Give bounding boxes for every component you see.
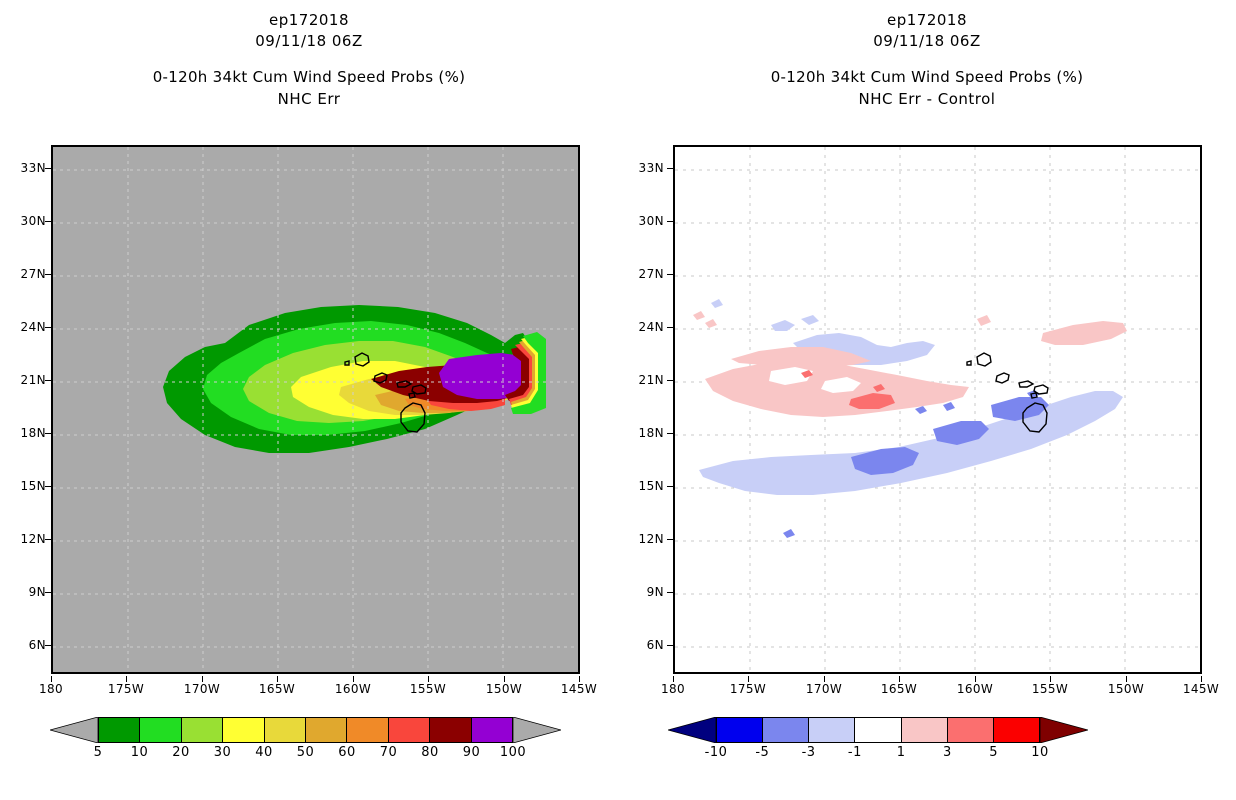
- right-xtick-160w: 160W: [950, 683, 1000, 695]
- panel-nhc-err-minus-control: ep172018 09/11/18 06Z 0-120h 34kt Cum Wi…: [618, 0, 1236, 800]
- right-colorbar-track: [716, 717, 1040, 743]
- right-colorbar-swatch-pos5: [994, 718, 1039, 742]
- left-storm-id: ep172018: [0, 10, 618, 31]
- left-chart-subtitle: NHC Err: [0, 88, 618, 110]
- right-xtick-165w: 165W: [874, 683, 924, 695]
- right-cbar-label-pos3: 3: [927, 745, 967, 761]
- left-cbar-label-20: 20: [161, 745, 201, 761]
- right-colorbar-swatch-neg3: [809, 718, 855, 742]
- left-ytick-12n: 12N: [4, 533, 46, 545]
- right-band-pos1-ne: [1041, 321, 1127, 345]
- right-speck-neg-upper: [771, 320, 795, 331]
- left-colorbar-swatch-30: [223, 718, 264, 742]
- right-colorbar-swatch-pos1: [902, 718, 948, 742]
- right-xtick-170w: 170W: [799, 683, 849, 695]
- right-ytick-33n: 33N: [622, 162, 664, 174]
- left-colorbar-swatch-40: [265, 718, 306, 742]
- left-ytick-21n: 21N: [4, 374, 46, 386]
- right-speck-neg-upper: [801, 315, 819, 325]
- right-xtick-150w: 150W: [1101, 683, 1151, 695]
- left-datetime: 09/11/18 06Z: [0, 31, 618, 52]
- right-xtick-155w: 155W: [1025, 683, 1075, 695]
- right-datetime: 09/11/18 06Z: [618, 31, 1236, 52]
- left-xtick-170w: 170W: [177, 683, 227, 695]
- right-chart-title: 0-120h 34kt Cum Wind Speed Probs (%): [618, 66, 1236, 88]
- right-speck-pos: [705, 319, 717, 328]
- right-difference-field: [675, 147, 1200, 672]
- right-colorbar-high-cap: [1040, 717, 1088, 743]
- right-colorbar-swatch-neutral: [855, 718, 901, 742]
- right-ytick-21n: 21N: [622, 374, 664, 386]
- left-contour-field: [53, 147, 578, 672]
- left-cbar-label-5: 5: [78, 745, 118, 761]
- left-ytick-33n: 33N: [4, 162, 46, 174]
- left-cbar-label-90: 90: [452, 745, 492, 761]
- left-ytick-27n: 27N: [4, 268, 46, 280]
- left-cbar-label-100: 100: [493, 745, 533, 761]
- right-map-plot: [673, 145, 1202, 674]
- right-panel-titles: ep172018 09/11/18 06Z 0-120h 34kt Cum Wi…: [618, 10, 1236, 110]
- left-ytick-30n: 30N: [4, 215, 46, 227]
- right-cbar-label-neg5: -5: [742, 745, 782, 761]
- right-ytick-15n: 15N: [622, 480, 664, 492]
- left-cbar-label-30: 30: [203, 745, 243, 761]
- left-colorbar-low-cap: [50, 717, 98, 743]
- left-xtick-160w: 160W: [328, 683, 378, 695]
- left-cbar-label-50: 50: [286, 745, 326, 761]
- right-colorbar-swatch-neg10: [717, 718, 763, 742]
- left-cbar-label-70: 70: [369, 745, 409, 761]
- left-xtick-165w: 165W: [252, 683, 302, 695]
- right-ytick-9n: 9N: [622, 586, 664, 598]
- right-ytick-30n: 30N: [622, 215, 664, 227]
- right-speck-neg: [783, 529, 795, 538]
- right-colorbar-swatch-pos3: [948, 718, 994, 742]
- right-speck-pos: [693, 311, 705, 320]
- left-colorbar-swatch-10: [140, 718, 181, 742]
- left-colorbar-swatch-60: [347, 718, 388, 742]
- right-speck-pos: [977, 315, 991, 326]
- right-xtick-145w: 145W: [1176, 683, 1226, 695]
- right-colorbar-low-cap: [668, 717, 716, 743]
- left-xtick-145w: 145W: [554, 683, 604, 695]
- right-colorbar-swatch-neg5: [763, 718, 809, 742]
- left-ytick-24n: 24N: [4, 321, 46, 333]
- left-colorbar-swatch-5: [99, 718, 140, 742]
- left-xtick-175w: 175W: [101, 683, 151, 695]
- right-storm-id: ep172018: [618, 10, 1236, 31]
- left-colorbar-swatch-20: [182, 718, 223, 742]
- right-cbar-label-neg1: -1: [835, 745, 875, 761]
- left-cbar-label-10: 10: [120, 745, 160, 761]
- left-colorbar-swatch-50: [306, 718, 347, 742]
- right-colorbar: -10 -5 -3 -1 1 3 5 10: [716, 717, 1040, 743]
- left-xtick-150w: 150W: [479, 683, 529, 695]
- right-ytick-27n: 27N: [622, 268, 664, 280]
- right-ytick-24n: 24N: [622, 321, 664, 333]
- left-xtick-155w: 155W: [403, 683, 453, 695]
- right-ytick-12n: 12N: [622, 533, 664, 545]
- right-speck-neg: [943, 402, 955, 411]
- right-cbar-label-pos5: 5: [974, 745, 1014, 761]
- left-ytick-9n: 9N: [4, 586, 46, 598]
- left-ytick-6n: 6N: [4, 639, 46, 651]
- right-ytick-18n: 18N: [622, 427, 664, 439]
- left-cbar-label-80: 80: [410, 745, 450, 761]
- left-cbar-label-40: 40: [244, 745, 284, 761]
- right-xtick-180: 180: [648, 683, 698, 695]
- right-cbar-label-neg10: -10: [696, 745, 736, 761]
- left-panel-titles: ep172018 09/11/18 06Z 0-120h 34kt Cum Wi…: [0, 10, 618, 110]
- right-colorbar-labels: -10 -5 -3 -1 1 3 5 10: [716, 745, 1040, 761]
- right-gridlines: [675, 147, 1200, 672]
- left-colorbar-swatch-70: [389, 718, 430, 742]
- left-chart-title: 0-120h 34kt Cum Wind Speed Probs (%): [0, 66, 618, 88]
- left-colorbar: 5 10 20 30 40 50 60 70 80 90 100: [98, 717, 513, 743]
- right-ytick-6n: 6N: [622, 639, 664, 651]
- panel-nhc-err: ep172018 09/11/18 06Z 0-120h 34kt Cum Wi…: [0, 0, 618, 800]
- right-speck-neg-upper: [711, 299, 723, 308]
- left-colorbar-high-cap: [513, 717, 561, 743]
- left-cbar-label-60: 60: [327, 745, 367, 761]
- left-ytick-18n: 18N: [4, 427, 46, 439]
- left-ytick-15n: 15N: [4, 480, 46, 492]
- left-colorbar-swatch-80: [430, 718, 471, 742]
- left-map-plot: [51, 145, 580, 674]
- right-cbar-label-neg3: -3: [789, 745, 829, 761]
- left-colorbar-track: [98, 717, 513, 743]
- left-colorbar-swatch-90: [472, 718, 512, 742]
- right-cbar-label-pos10: 10: [1020, 745, 1060, 761]
- right-chart-subtitle: NHC Err - Control: [618, 88, 1236, 110]
- right-xtick-175w: 175W: [723, 683, 773, 695]
- left-colorbar-labels: 5 10 20 30 40 50 60 70 80 90 100: [98, 745, 513, 761]
- right-speck-neg: [915, 406, 927, 414]
- right-cbar-label-pos1: 1: [881, 745, 921, 761]
- left-xtick-180: 180: [26, 683, 76, 695]
